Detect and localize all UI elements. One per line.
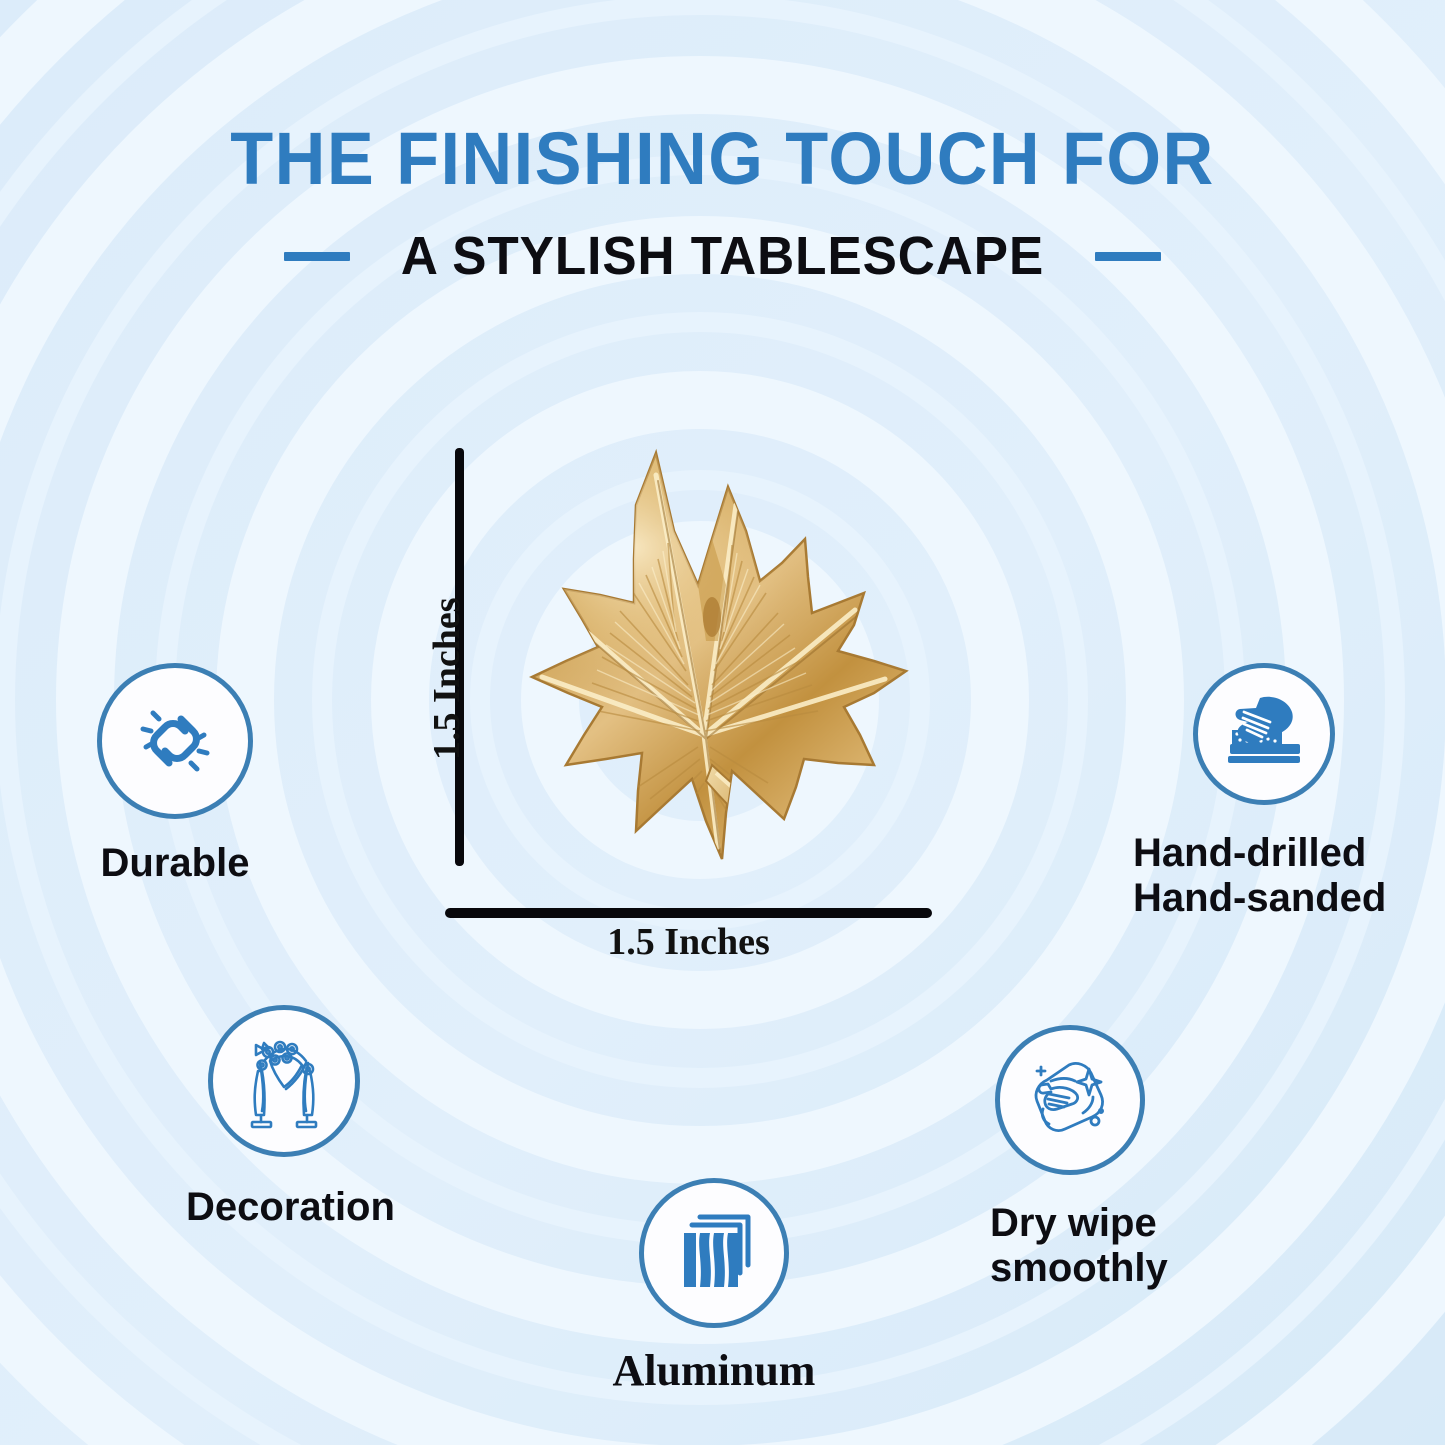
infographic-canvas: THE FINISHING TOUCH FOR A STYLISH TABLES… (0, 0, 1445, 1445)
dash-right-icon (1095, 252, 1161, 261)
feature-dry-wipe[interactable]: Dry wipe smoothly (995, 1025, 1168, 1291)
floral-arch-icon (208, 1005, 360, 1157)
hand-sanding-icon (1193, 663, 1335, 805)
dimension-line-horizontal (445, 908, 932, 918)
hand-wiping-cloth-icon (995, 1025, 1145, 1175)
page-title: THE FINISHING TOUCH FOR (36, 122, 1409, 196)
feature-label-durable: Durable (97, 841, 253, 886)
subtitle-row: A STYLISH TABLESCAPE (0, 225, 1445, 287)
feature-label-dry-wipe: Dry wipe smoothly (990, 1201, 1168, 1291)
product-image-maple-leaf (460, 435, 930, 885)
feature-hand-drilled-sanded[interactable]: Hand-drilled Hand-sanded (1193, 663, 1386, 921)
chain-link-icon (97, 663, 253, 819)
feature-label-hand-drilled-sanded: Hand-drilled Hand-sanded (1133, 831, 1386, 921)
feature-decoration[interactable]: Decoration (208, 1005, 382, 1230)
feature-durable[interactable]: Durable (97, 663, 253, 886)
feature-label-decoration: Decoration (186, 1185, 382, 1230)
metal-sheets-icon (639, 1178, 789, 1328)
dimension-label-vertical: 1.5 Inches (425, 597, 469, 760)
feature-label-aluminum: Aluminum (599, 1346, 829, 1395)
page-subtitle: A STYLISH TABLESCAPE (401, 225, 1044, 287)
dimension-label-horizontal: 1.5 Inches (445, 920, 932, 964)
dash-left-icon (284, 252, 350, 261)
feature-aluminum[interactable]: Aluminum (639, 1178, 829, 1395)
